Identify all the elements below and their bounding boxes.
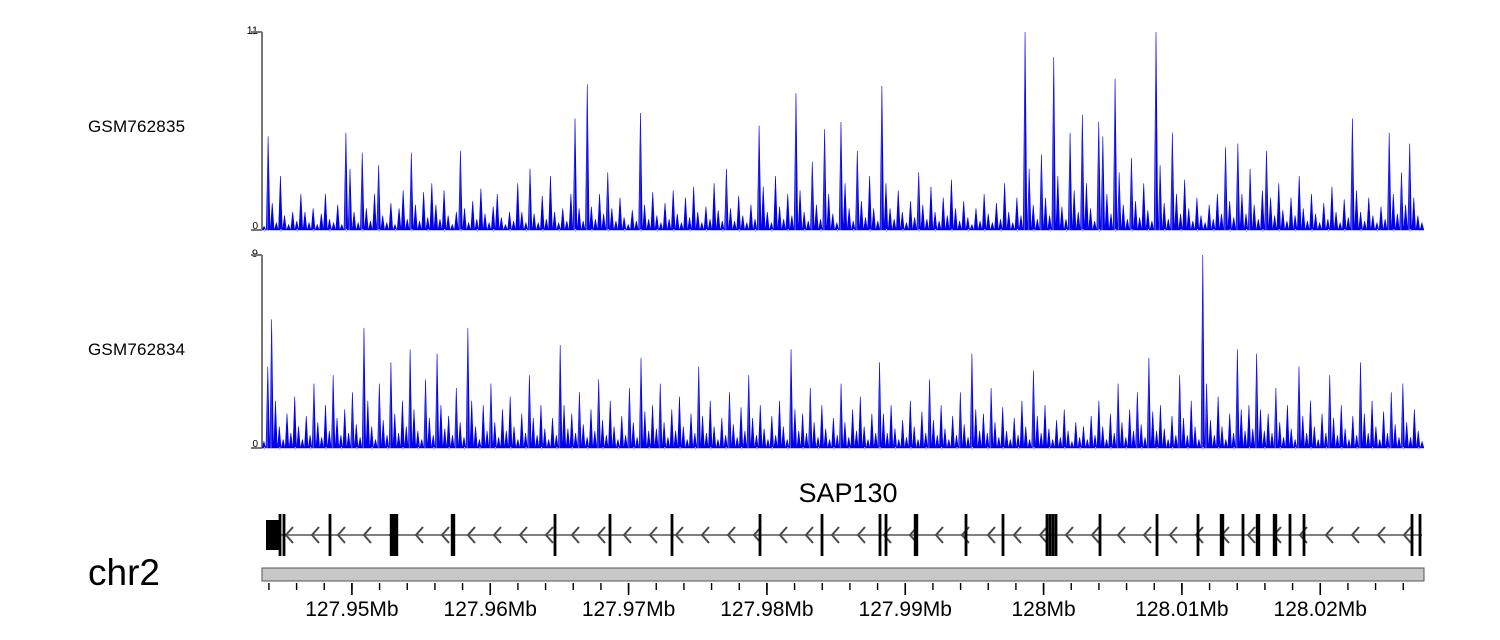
- gene-name-label: SAP130: [798, 478, 897, 509]
- track-label-gsm762835: GSM762835: [88, 117, 185, 137]
- ruler-tick-label: 127.97Mb: [582, 598, 675, 622]
- track-label-gsm762834: GSM762834: [88, 340, 185, 360]
- genome-coordinate-ruler[interactable]: [260, 566, 1430, 598]
- ruler-tick-label: 127.96Mb: [444, 598, 537, 622]
- genome-browser-view: GSM762835 11 0 GSM762834 9 0 SAP130 chr2…: [0, 0, 1500, 640]
- ruler-tick-label: 127.98Mb: [720, 598, 813, 622]
- ruler-tick-label: 128Mb: [1011, 598, 1075, 622]
- chromosome-label: chr2: [88, 552, 160, 594]
- signal-track-gsm762834[interactable]: [262, 255, 1424, 448]
- ruler-tick-label: 127.99Mb: [859, 598, 952, 622]
- gene-model-sap130[interactable]: [262, 512, 1430, 558]
- ruler-tick-label: 128.01Mb: [1135, 598, 1228, 622]
- signal-track-gsm762835[interactable]: [262, 32, 1424, 230]
- ruler-tick-label: 128.02Mb: [1274, 598, 1367, 622]
- ruler-tick-label: 127.95Mb: [305, 598, 398, 622]
